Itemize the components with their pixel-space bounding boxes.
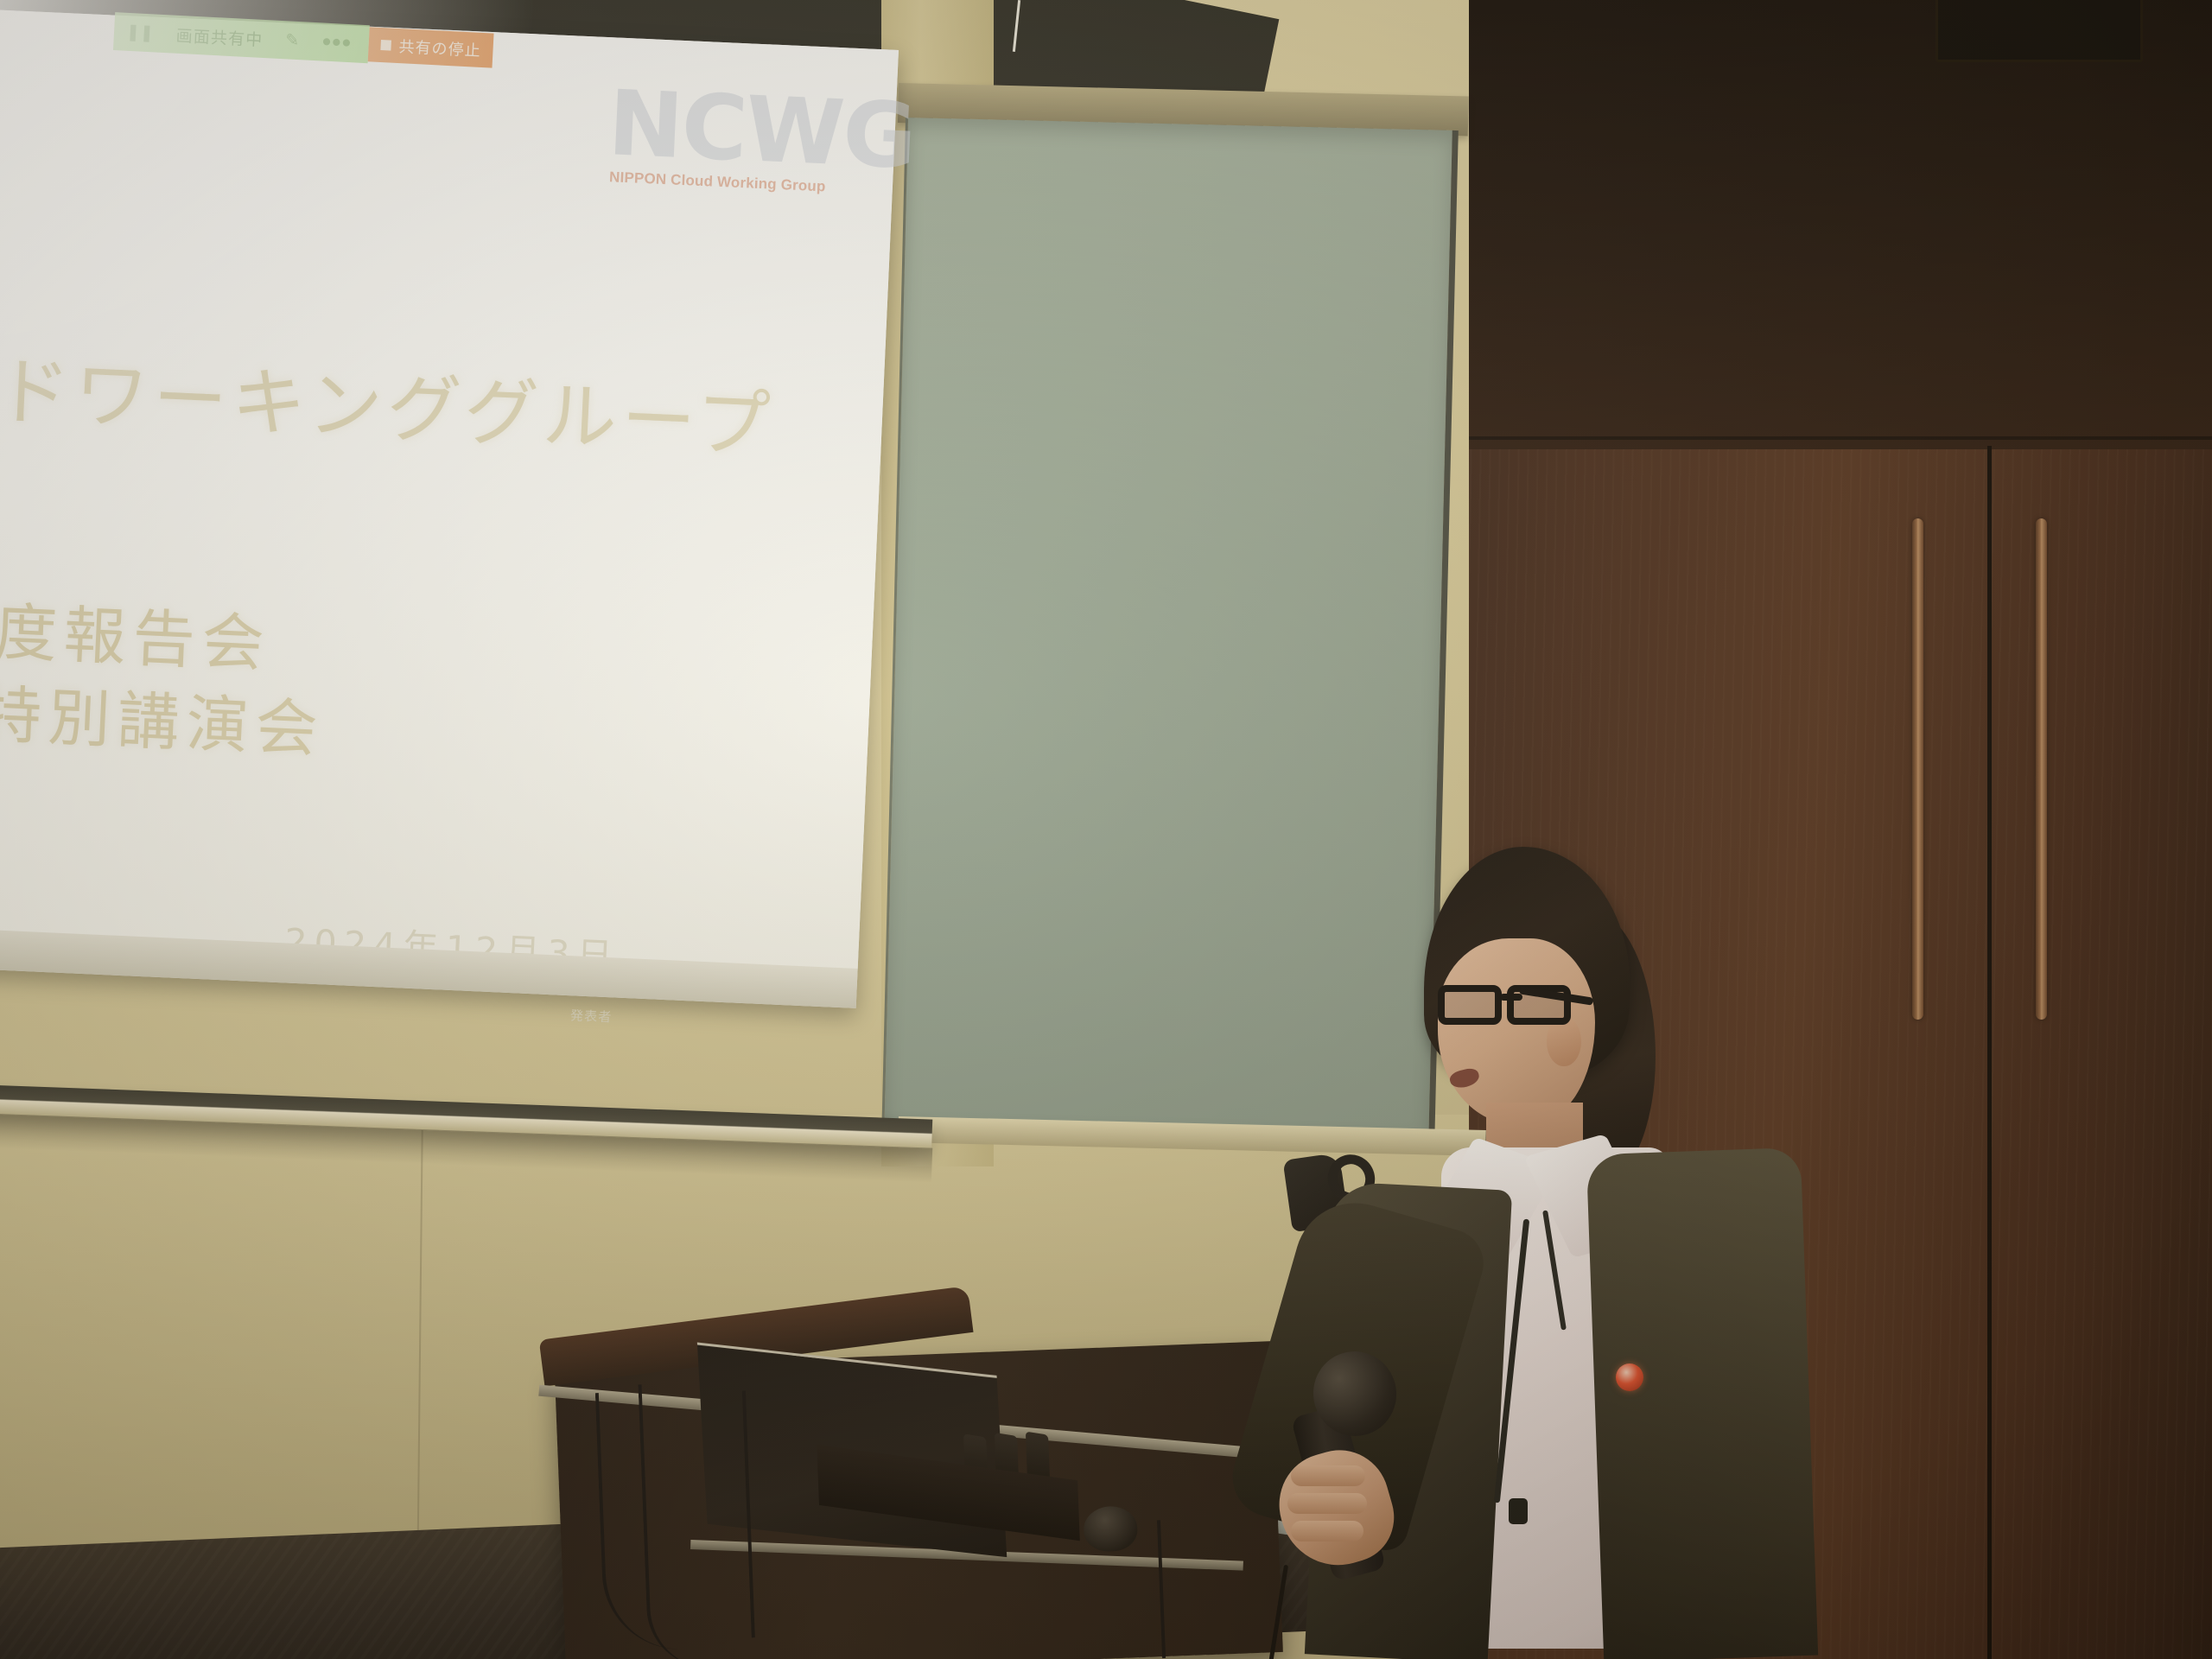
finger-3 bbox=[1291, 1521, 1363, 1541]
presentation-photo: NCWG NIPPON Cloud Working Group クラウドワーキン… bbox=[0, 0, 2212, 1659]
wood-door-left-handle[interactable] bbox=[1912, 518, 1923, 1020]
ncwg-logo-mark: NCWG bbox=[607, 82, 917, 178]
eyeglasses-bridge bbox=[1500, 994, 1522, 1001]
blazer-right-panel bbox=[1586, 1147, 1818, 1659]
finger-2 bbox=[1287, 1493, 1367, 1514]
ncwg-logo: NCWG NIPPON Cloud Working Group bbox=[606, 56, 825, 195]
wood-wall-upper bbox=[1469, 0, 2212, 449]
wood-wall-horizontal-seam bbox=[1469, 436, 2212, 440]
computer-mouse[interactable] bbox=[1083, 1505, 1138, 1552]
ceiling-speaker bbox=[1935, 0, 2143, 62]
wood-door-center-seam bbox=[1987, 446, 1992, 1659]
av-cable-2 bbox=[638, 1382, 709, 1659]
screen-glare bbox=[0, 0, 543, 493]
presenter bbox=[1348, 847, 1797, 1659]
eyeglasses-lens-front bbox=[1438, 985, 1502, 1025]
lanyard-clip bbox=[1509, 1498, 1528, 1524]
projection-screen-surface: NCWG NIPPON Cloud Working Group クラウドワーキン… bbox=[0, 2, 899, 969]
wood-door-right-handle[interactable] bbox=[2036, 518, 2047, 1020]
projection-screen-frame: NCWG NIPPON Cloud Working Group クラウドワーキン… bbox=[0, 2, 899, 1008]
lectern bbox=[553, 1302, 1318, 1659]
slide-footnote: 発表者 bbox=[569, 1006, 612, 1026]
red-lapel-pin bbox=[1616, 1363, 1643, 1391]
projection-screen: NCWG NIPPON Cloud Working Group クラウドワーキン… bbox=[0, 2, 899, 1008]
slide-subtitle: CWG年度報告会 13周年特別講演会 bbox=[0, 581, 902, 797]
finger-1 bbox=[1291, 1465, 1365, 1486]
